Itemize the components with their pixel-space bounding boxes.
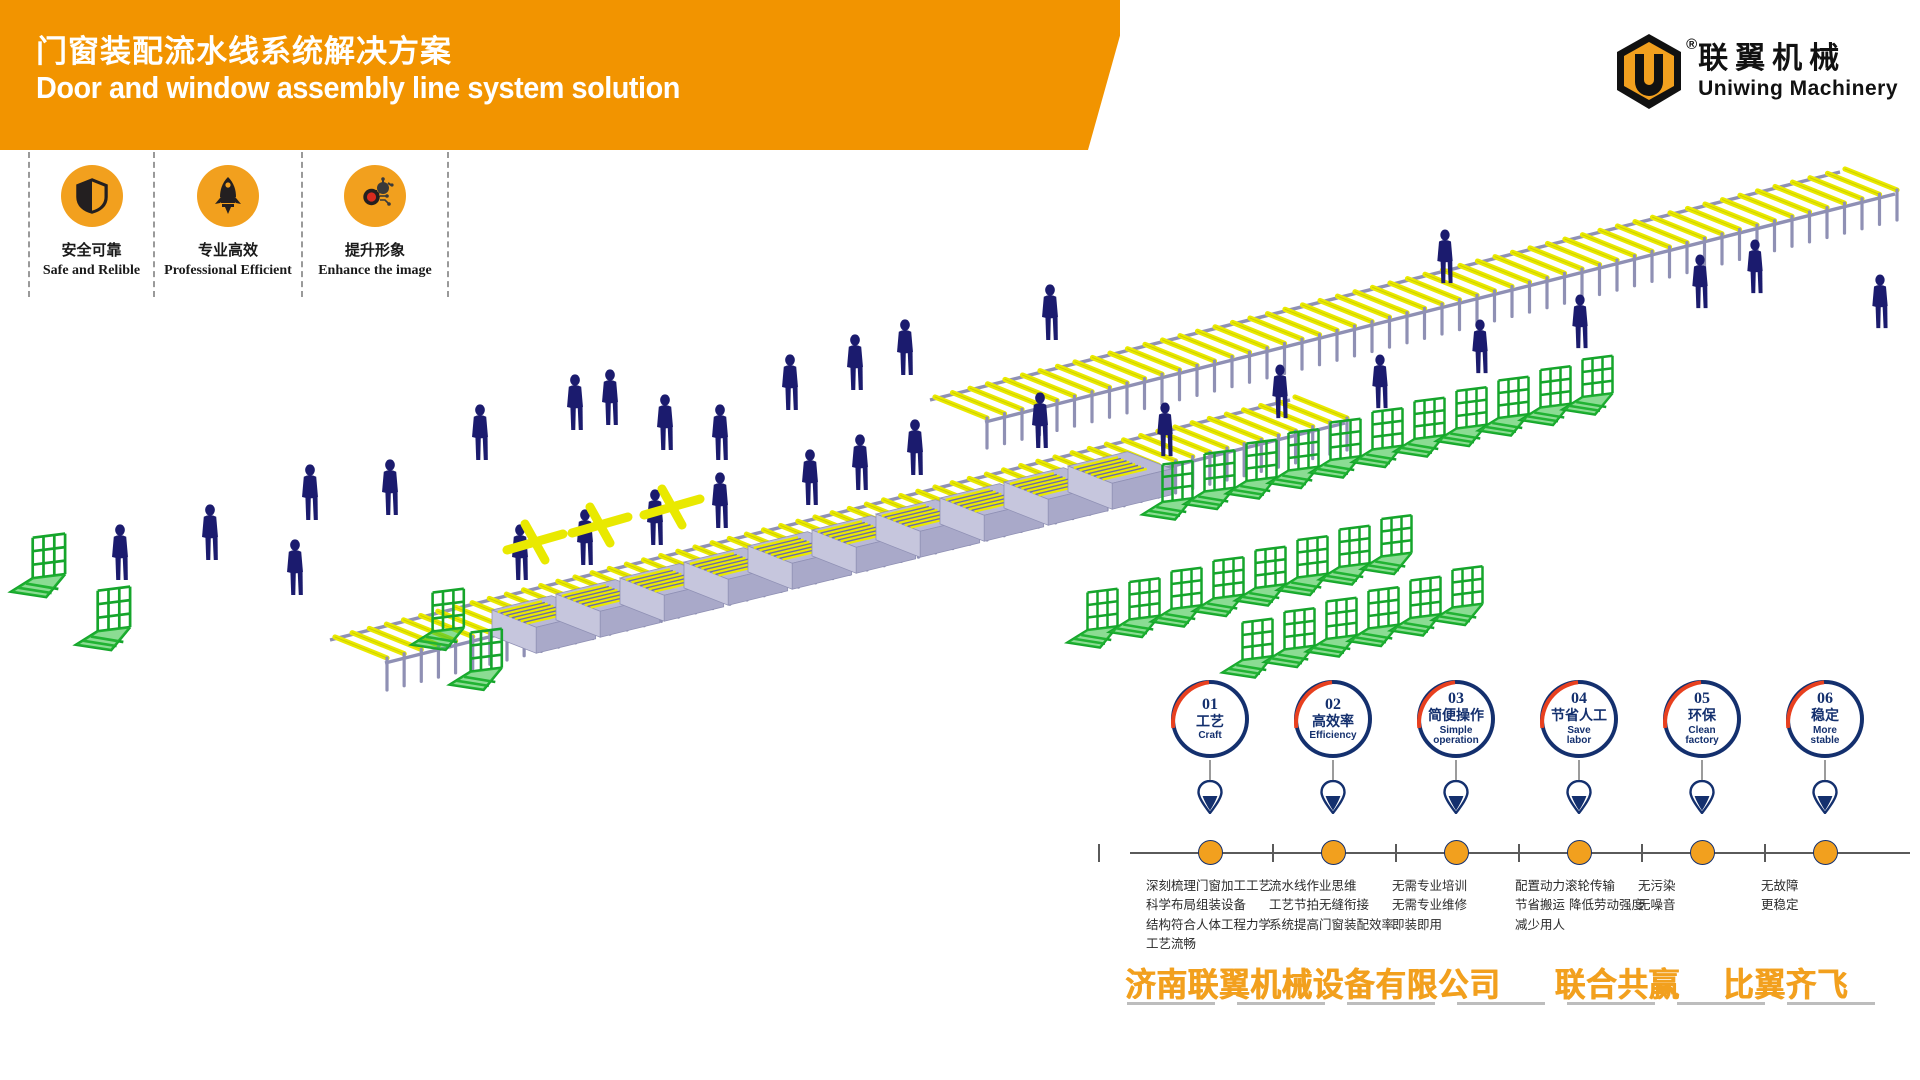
benefit-ring-05[interactable]: 05 环保 Cleanfactory xyxy=(1663,680,1741,758)
timeline-desc-line: 无故障 xyxy=(1761,876,1911,895)
benefit-number: 01 xyxy=(1202,697,1218,713)
timeline-node-dot xyxy=(1198,840,1223,865)
benefit-label-cn: 节省人工 xyxy=(1551,708,1607,724)
benefit-label-cn: 环保 xyxy=(1688,708,1716,724)
yellow-window-frame-workpieces xyxy=(507,489,700,560)
logo-name-cn: 联翼机械 xyxy=(1698,43,1898,75)
timeline-node-dot xyxy=(1813,840,1838,865)
logo-text-block: 联翼机械 Uniwing Machinery xyxy=(1698,43,1898,101)
benefit-label-en: Cleanfactory xyxy=(1685,726,1718,747)
timeline-description: 无故障更稳定 xyxy=(1761,876,1911,915)
green-transport-carts xyxy=(11,356,1612,690)
timeline-tick xyxy=(1764,844,1766,862)
benefit-number: 05 xyxy=(1694,691,1710,707)
map-pin-icon xyxy=(1443,780,1469,814)
benefit-label-cn: 高效率 xyxy=(1312,714,1354,730)
timeline-axis xyxy=(1130,852,1910,854)
timeline-node-dot xyxy=(1444,840,1469,865)
timeline-desc-line: 工艺流畅 xyxy=(1146,934,1296,953)
benefit-number: 03 xyxy=(1448,691,1464,707)
timeline-item-03[interactable]: 03 简便操作 Simpleoperation 无需专业培训无需专业维修即装即用 xyxy=(1396,680,1516,758)
map-pin-icon xyxy=(1689,780,1715,814)
timeline-tick xyxy=(1641,844,1643,862)
map-pin-icon xyxy=(1320,780,1346,814)
timeline-tick xyxy=(1098,844,1100,862)
benefit-label-cn: 简便操作 xyxy=(1428,708,1484,724)
benefit-label-cn: 稳定 xyxy=(1811,708,1839,724)
hexagon-u-logo-icon: ® xyxy=(1614,32,1684,112)
company-name: 济南联翼机械设备有限公司 xyxy=(1125,965,1500,1004)
benefit-ring-04[interactable]: 04 节省人工 Savelabor xyxy=(1540,680,1618,758)
timeline-tick xyxy=(1518,844,1520,862)
brand-logo: ® 联翼机械 Uniwing Machinery xyxy=(1614,32,1898,112)
slogan-part-1: 联合共赢 xyxy=(1555,965,1680,1004)
timeline-tick xyxy=(1272,844,1274,862)
timeline-node-dot xyxy=(1690,840,1715,865)
lower-assembly-table-line xyxy=(492,452,1172,654)
benefit-ring-03[interactable]: 03 简便操作 Simpleoperation xyxy=(1417,680,1495,758)
page-title-en: Door and window assembly line system sol… xyxy=(36,70,680,106)
timeline-desc-line: 更稳定 xyxy=(1761,895,1911,914)
benefit-ring-01[interactable]: 01 工艺 Craft xyxy=(1171,680,1249,758)
benefit-number: 06 xyxy=(1817,691,1833,707)
benefit-label-en: Efficiency xyxy=(1309,731,1356,742)
logo-name-en: Uniwing Machinery xyxy=(1698,77,1898,101)
timeline-node-dot xyxy=(1321,840,1346,865)
benefit-number: 02 xyxy=(1325,697,1341,713)
timeline-item-05[interactable]: 05 环保 Cleanfactory 无污染无噪音 xyxy=(1642,680,1762,758)
registered-trademark-icon: ® xyxy=(1686,36,1697,53)
benefits-timeline: 01 工艺 Craft 深刻梳理门窗加工工艺科学布局组装设备结构符合人体工程力学… xyxy=(1130,680,1910,980)
map-pin-icon xyxy=(1566,780,1592,814)
timeline-desc-line: 减少用人 xyxy=(1515,915,1665,934)
benefit-ring-06[interactable]: 06 稳定 Morestable xyxy=(1786,680,1864,758)
benefit-label-en: Craft xyxy=(1198,731,1221,742)
benefit-number: 04 xyxy=(1571,691,1587,707)
benefit-ring-02[interactable]: 02 高效率 Efficiency xyxy=(1294,680,1372,758)
map-pin-icon xyxy=(1197,780,1223,814)
poster-root: 门窗装配流水线系统解决方案 Door and window assembly l… xyxy=(0,0,1920,1080)
benefit-label-en: Morestable xyxy=(1811,726,1840,747)
timeline-tick xyxy=(1395,844,1397,862)
timeline-item-06[interactable]: 06 稳定 Morestable 无故障更稳定 xyxy=(1765,680,1885,758)
footer-slogan-block: 济南联翼机械设备有限公司 联合共赢 比翼齐飞 xyxy=(1125,958,1915,1018)
map-pin-icon xyxy=(1812,780,1838,814)
slogan-part-2: 比翼齐飞 xyxy=(1723,965,1848,1004)
page-title-cn: 门窗装配流水线系统解决方案 xyxy=(36,26,452,71)
benefit-label-cn: 工艺 xyxy=(1196,714,1224,730)
timeline-item-01[interactable]: 01 工艺 Craft 深刻梳理门窗加工工艺科学布局组装设备结构符合人体工程力学… xyxy=(1150,680,1270,758)
timeline-node-dot xyxy=(1567,840,1592,865)
footer-slogan-text: 济南联翼机械设备有限公司 联合共赢 比翼齐飞 xyxy=(1125,958,1852,1006)
benefit-label-en: Savelabor xyxy=(1567,726,1591,747)
timeline-item-04[interactable]: 04 节省人工 Savelabor 配置动力滚轮传输节省搬运 降低劳动强度减少用… xyxy=(1519,680,1639,758)
slogan-underline xyxy=(1127,1002,1897,1005)
timeline-item-02[interactable]: 02 高效率 Efficiency 流水线作业思维工艺节拍无缝衔接系统提高门窗装… xyxy=(1273,680,1393,758)
benefit-label-en: Simpleoperation xyxy=(1433,726,1479,747)
